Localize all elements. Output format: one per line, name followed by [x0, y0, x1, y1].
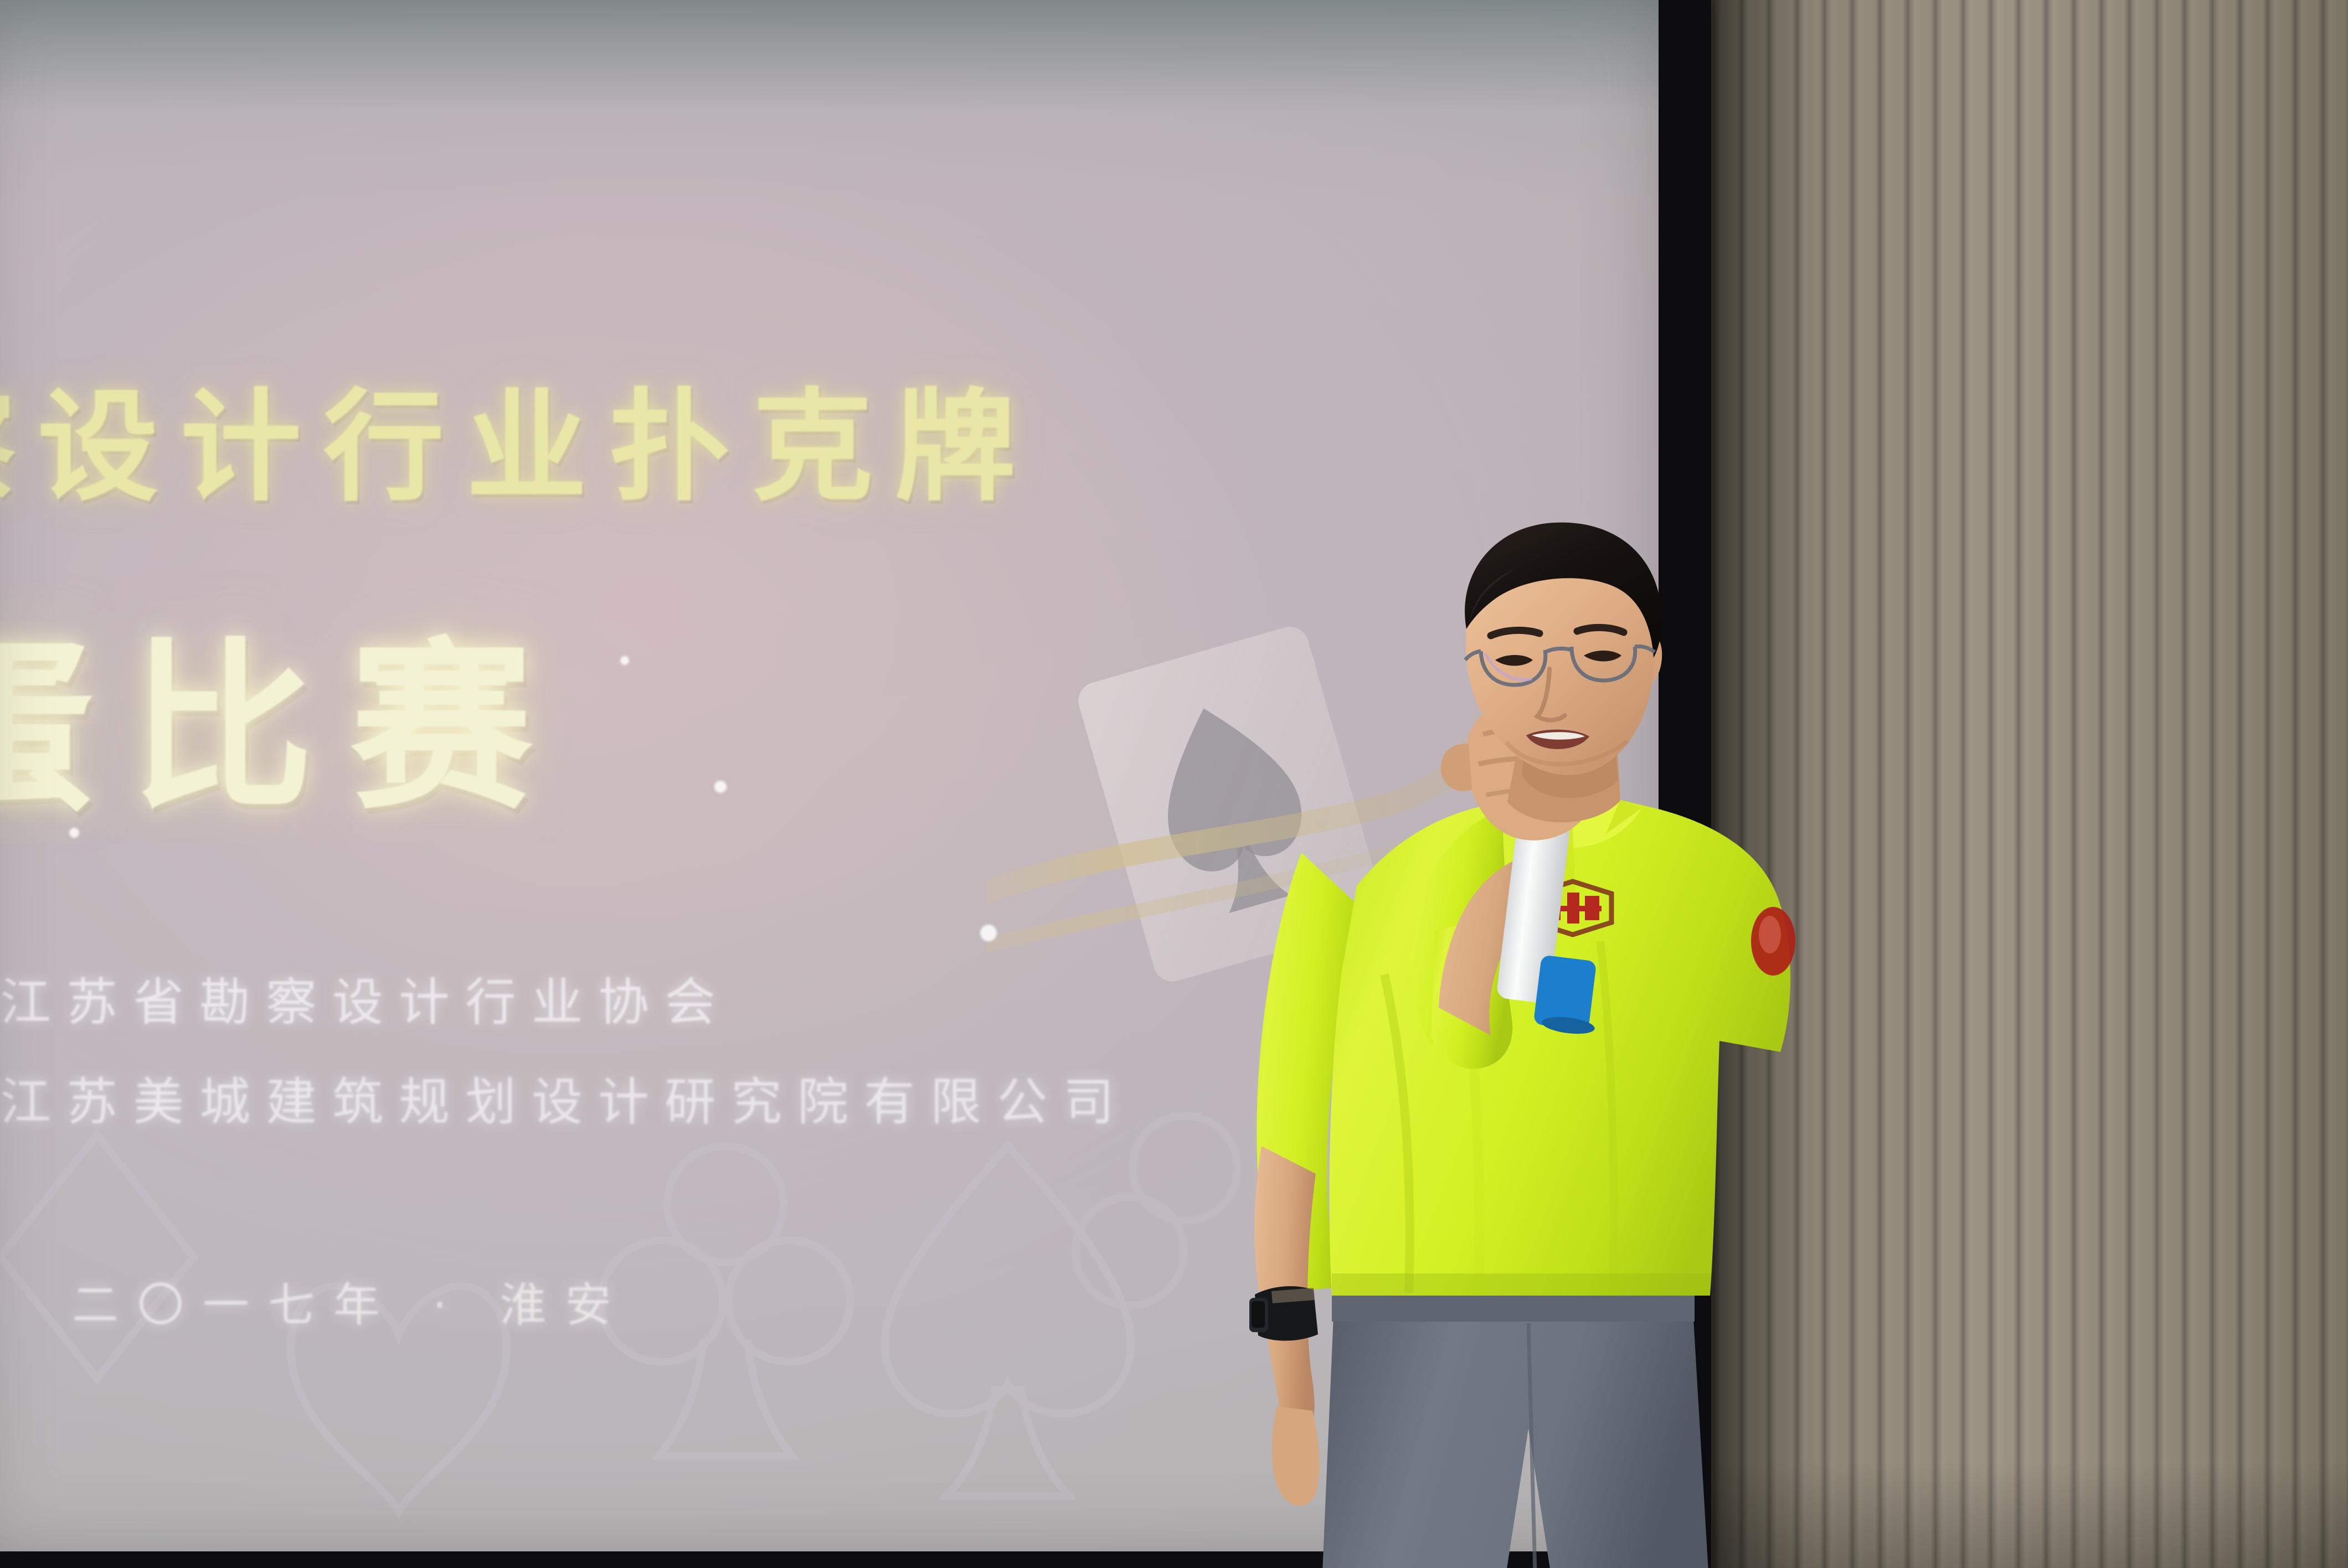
- wrist-watch-icon: [1249, 1286, 1318, 1341]
- speaker-figure: [1218, 520, 1905, 1568]
- sleeve-emblem-icon: [1751, 907, 1795, 976]
- presentation-photo-scene: 察设计行业扑克牌 蛋比赛 江苏省勘察设计行业协会 江苏美城建筑规划设计研究院有限…: [0, 0, 2348, 1568]
- speaker-trousers: [1322, 1287, 1708, 1568]
